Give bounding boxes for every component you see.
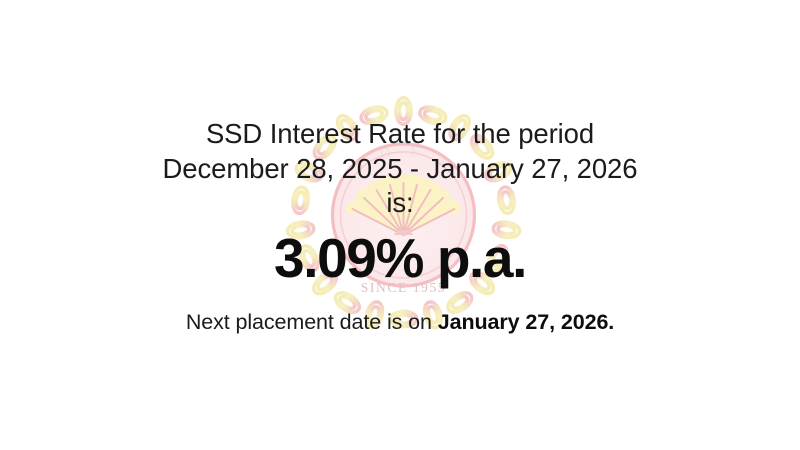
headline-line-1: SSD Interest Rate for the period: [163, 117, 638, 152]
notice-canvas: S D E A SINCE 1955: [0, 0, 800, 450]
headline-line-3: is:: [163, 186, 638, 221]
interest-rate-headline: SSD Interest Rate for the period Decembe…: [163, 117, 638, 221]
headline-line-2: December 28, 2025 - January 27, 2026: [163, 152, 638, 187]
next-placement-date: January 27, 2026.: [438, 310, 614, 334]
interest-rate-value: 3.09% p.a.: [274, 230, 526, 287]
next-placement-note: Next placement date is on January 27, 20…: [186, 309, 614, 337]
next-placement-label: Next placement date is on: [186, 310, 438, 334]
notice-content: SSD Interest Rate for the period Decembe…: [0, 0, 800, 450]
